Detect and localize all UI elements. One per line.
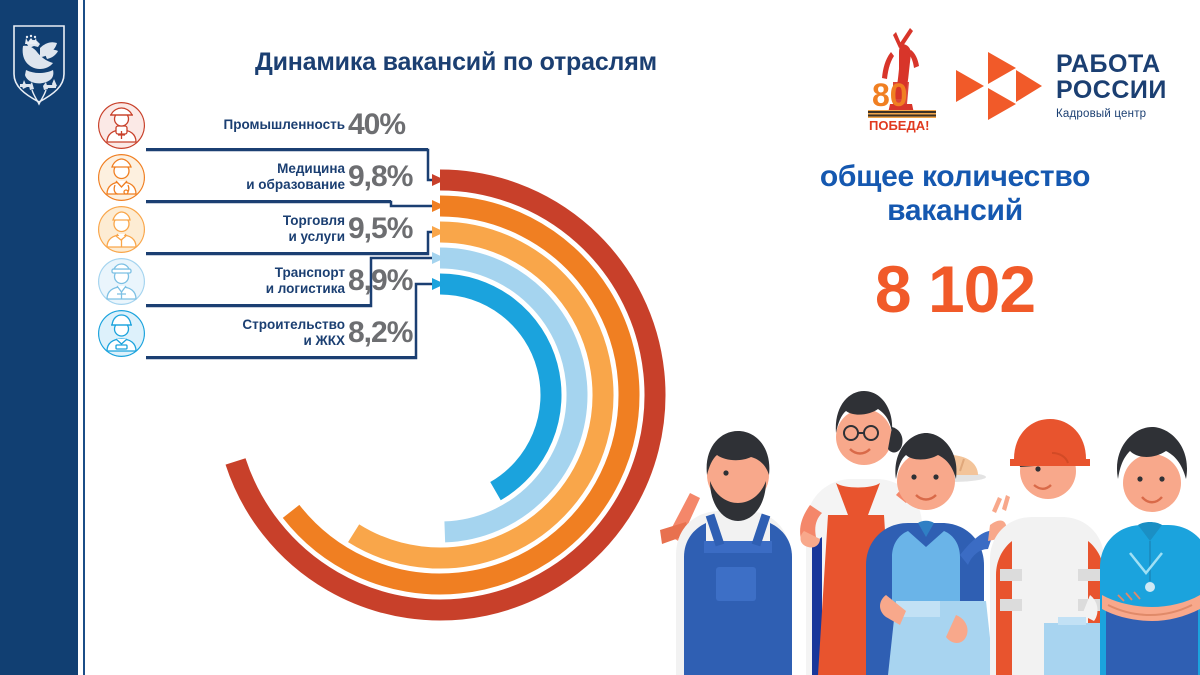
legend-label-transport-logistics: Транспорт и логистика bbox=[146, 256, 351, 306]
legend-percent-transport-logistics: 8,9% bbox=[348, 256, 412, 306]
connector-arrowhead-0 bbox=[432, 174, 445, 186]
legend-label-line2: и ЖКХ bbox=[304, 333, 346, 349]
brand-line-2: РОССИИ bbox=[1056, 78, 1167, 104]
brand-subtitle: Кадровый центр bbox=[1056, 108, 1167, 120]
doctor-avatar-icon bbox=[98, 154, 145, 201]
figure-man-blue-shirt-folder bbox=[866, 433, 1010, 675]
connector-arrowhead-2 bbox=[432, 226, 445, 238]
victory-80-badge-icon: 80 ПОБЕДА! bbox=[866, 26, 942, 134]
legend-percent-trade-services: 9,5% bbox=[348, 204, 412, 254]
connector-arrowhead-1 bbox=[432, 200, 445, 212]
figure-bearded-man-blue-overalls bbox=[660, 431, 792, 675]
legend-label-line1: Торговля bbox=[283, 213, 345, 229]
legend-underline bbox=[146, 304, 371, 307]
legend-item-construction-utilities[interactable]: Строительство и ЖКХ 8,2% bbox=[98, 308, 428, 364]
legend-item-industry[interactable]: Промышленность 40% bbox=[98, 100, 428, 156]
legend-underline bbox=[146, 252, 428, 255]
legend-underline bbox=[146, 356, 416, 359]
legend-label-industry: Промышленность bbox=[146, 100, 351, 150]
legend-percent-industry: 40% bbox=[348, 100, 405, 150]
figure-man-orange-hardhat-safety-vest bbox=[990, 419, 1104, 675]
legend-item-trade-services[interactable]: Торговля и услуги 9,5% bbox=[98, 204, 428, 260]
legend-underline bbox=[146, 148, 428, 151]
legend-label-line1: Транспорт bbox=[275, 265, 345, 281]
svg-text:80: 80 bbox=[872, 77, 908, 113]
trade-services-avatar-icon bbox=[98, 206, 145, 253]
brand-logo-block[interactable]: 80 ПОБЕДА! РАБОТА РОССИИ Кадровый центр bbox=[866, 26, 1176, 136]
legend-label-line1: Медицина bbox=[277, 161, 345, 177]
kpi-value: 8 102 bbox=[755, 251, 1155, 327]
transport-captain-avatar-icon bbox=[98, 258, 145, 305]
industry-worker-avatar-icon bbox=[98, 102, 145, 149]
legend-label-line1: Промышленность bbox=[224, 117, 346, 133]
infographic-slide: Динамика вакансий по отраслям bbox=[0, 0, 1200, 675]
kpi-title: общее количество вакансий bbox=[755, 160, 1155, 227]
legend-percent-construction-utilities: 8,2% bbox=[348, 308, 412, 358]
svg-text:ПОБЕДА!: ПОБЕДА! bbox=[869, 118, 929, 133]
brand-line-1: РАБОТА bbox=[1056, 52, 1167, 78]
legend-label-trade-services: Торговля и услуги bbox=[146, 204, 351, 254]
brand-wordmark: РАБОТА РОССИИ Кадровый центр bbox=[1056, 52, 1167, 120]
legend-item-medicine-education[interactable]: Медицина и образование 9,8% bbox=[98, 152, 428, 208]
figure-woman-blue-polo-arms-crossed bbox=[1100, 427, 1200, 675]
legend-label-line2: и услуги bbox=[288, 229, 345, 245]
kpi-title-line-2: вакансий bbox=[755, 194, 1155, 228]
legend-percent-medicine-education: 9,8% bbox=[348, 152, 412, 202]
connector-arrowhead-3 bbox=[432, 252, 445, 264]
legend-underline bbox=[146, 200, 391, 203]
construction-worker-avatar-icon bbox=[98, 310, 145, 357]
kpi-title-line-1: общее количество bbox=[820, 160, 1090, 193]
legend-label-line2: и образование bbox=[246, 177, 345, 193]
rabota-rossii-triangles-icon bbox=[954, 50, 1046, 124]
legend-label-line2: и логистика bbox=[266, 281, 345, 297]
legend-label-line1: Строительство bbox=[242, 317, 345, 333]
kpi-block: общее количество вакансий 8 102 bbox=[755, 160, 1155, 327]
legend-item-transport-logistics[interactable]: Транспорт и логистика 8,9% bbox=[98, 256, 428, 312]
workers-illustration bbox=[660, 355, 1200, 675]
legend-label-construction-utilities: Строительство и ЖКХ bbox=[146, 308, 351, 358]
legend-label-medicine-education: Медицина и образование bbox=[146, 152, 351, 202]
connector-arrowhead-4 bbox=[432, 278, 445, 290]
